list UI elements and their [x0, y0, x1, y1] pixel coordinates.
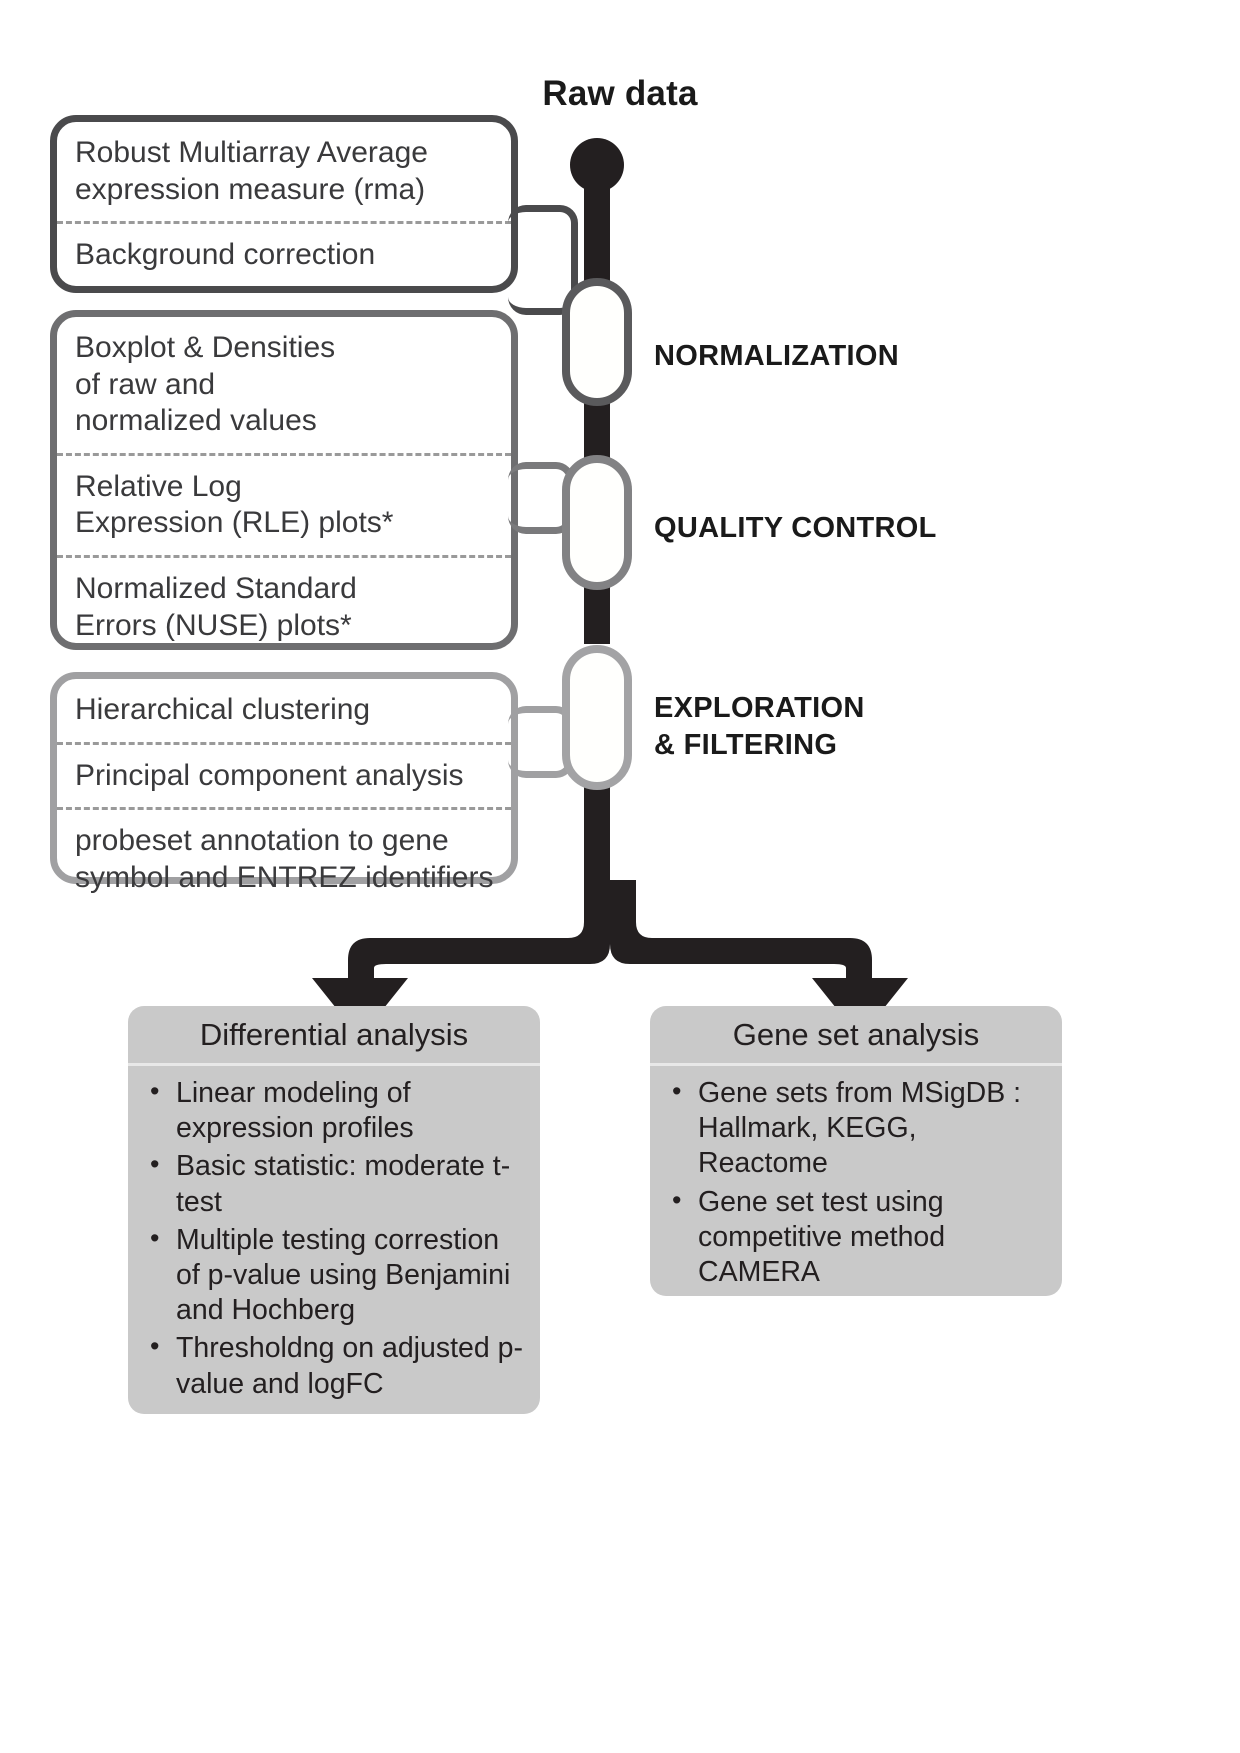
- list-item: Gene set test using competitive method C…: [668, 1185, 1046, 1291]
- stage-step: Robust Multiarray Averageexpression meas…: [57, 122, 511, 221]
- list-item: Multiple testing correstion of p-value u…: [146, 1223, 524, 1329]
- output-bullet-list: Gene sets from MSigDB : Hallmark, KEGG, …: [650, 1066, 1062, 1296]
- spine-capsule-quality-control: [562, 455, 632, 590]
- stage-box-normalization: Robust Multiarray Averageexpression meas…: [50, 115, 518, 293]
- output-title: Differential analysis: [128, 1006, 540, 1066]
- stage-box-quality-control: Boxplot & Densitiesof raw andnormalized …: [50, 310, 518, 650]
- list-item: Thresholdng on adjusted p-value and logF…: [146, 1331, 524, 1401]
- output-box-differential-analysis: Differential analysis Linear modeling of…: [128, 1006, 540, 1414]
- raw-data-title: Raw data: [470, 74, 770, 114]
- list-item: Basic statistic: moderate t-test: [146, 1149, 524, 1219]
- stage-label-exploration-filtering: EXPLORATION& FILTERING: [654, 690, 865, 764]
- spine-capsule-exploration: [562, 645, 632, 790]
- stage-step: Principal component analysis: [57, 742, 511, 808]
- spine-capsule-normalization: [562, 278, 632, 406]
- stage-step: Background correction: [57, 221, 511, 287]
- stage-step: Hierarchical clustering: [57, 679, 511, 742]
- stage-step: Normalized StandardErrors (NUSE) plots*: [57, 555, 511, 657]
- output-box-gene-set-analysis: Gene set analysis Gene sets from MSigDB …: [650, 1006, 1062, 1296]
- stage-step: Relative LogExpression (RLE) plots*: [57, 453, 511, 555]
- list-item: Gene sets from MSigDB : Hallmark, KEGG, …: [668, 1076, 1046, 1182]
- stage-box-exploration-filtering: Hierarchical clustering Principal compon…: [50, 672, 518, 884]
- stage-label-quality-control: QUALITY CONTROL: [654, 510, 937, 547]
- output-title: Gene set analysis: [650, 1006, 1062, 1066]
- list-item: Linear modeling of expression profiles: [146, 1076, 524, 1146]
- stage-label-normalization: NORMALIZATION: [654, 338, 899, 375]
- workflow-diagram: Raw data Robust Multiarray Averageexpres…: [0, 0, 1240, 1753]
- spine-segment: [584, 584, 610, 644]
- output-bullet-list: Linear modeling of expression profiles B…: [128, 1066, 540, 1414]
- stage-step: Boxplot & Densitiesof raw andnormalized …: [57, 317, 511, 453]
